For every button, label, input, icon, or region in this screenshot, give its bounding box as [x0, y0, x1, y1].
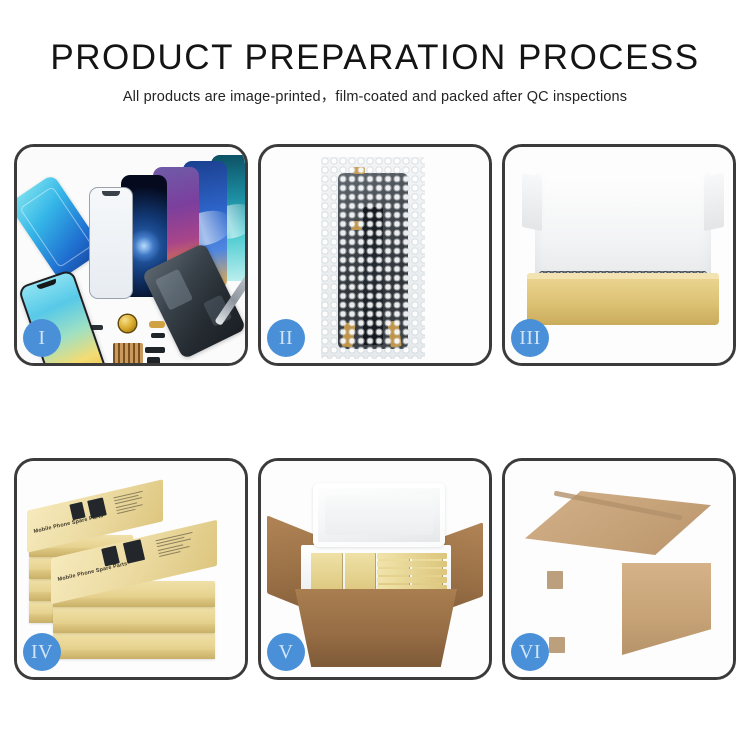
camera-lens-part [119, 315, 136, 332]
kraft-tray [527, 279, 719, 325]
spare-part [149, 321, 165, 328]
process-steps-grid: I II [14, 144, 736, 680]
carton-right-face [622, 563, 711, 655]
process-step-panel-4: Mobile Phone Spare Parts Mobile Phone Sp… [14, 458, 248, 680]
step-badge: I [23, 319, 61, 357]
carton-front [295, 589, 457, 667]
product-preparation-infographic: PRODUCT PREPARATION PROCESS All products… [0, 0, 750, 750]
step-badge: IV [23, 633, 61, 671]
process-step-panel-2: II [258, 144, 492, 366]
spare-part [151, 333, 165, 338]
carton-left-face [525, 549, 623, 649]
process-step-panel-5: V [258, 458, 492, 680]
tape-patch [549, 637, 565, 653]
foam-lid [313, 483, 445, 547]
page-title: PRODUCT PREPARATION PROCESS [0, 38, 750, 78]
header: PRODUCT PREPARATION PROCESS All products… [0, 0, 750, 106]
step-badge: VI [511, 633, 549, 671]
phone-screen-glass [89, 187, 133, 299]
process-step-panel-3: III [502, 144, 736, 366]
spare-part [147, 357, 160, 363]
spare-part [145, 347, 165, 353]
bubble-texture [321, 157, 425, 359]
stacked-box [53, 633, 215, 659]
carton-top-face [525, 491, 711, 555]
process-step-panel-1: I [14, 144, 248, 366]
tape-patch [547, 571, 563, 589]
process-step-panel-6: VI [502, 458, 736, 680]
step-badge: III [511, 319, 549, 357]
step-badge: V [267, 633, 305, 671]
page-subtitle: All products are image-printed，film-coat… [0, 88, 750, 106]
step-badge: II [267, 319, 305, 357]
bubble-wrap-bag [321, 157, 425, 359]
stacked-box [53, 607, 215, 633]
chip-grid-part [113, 343, 143, 363]
